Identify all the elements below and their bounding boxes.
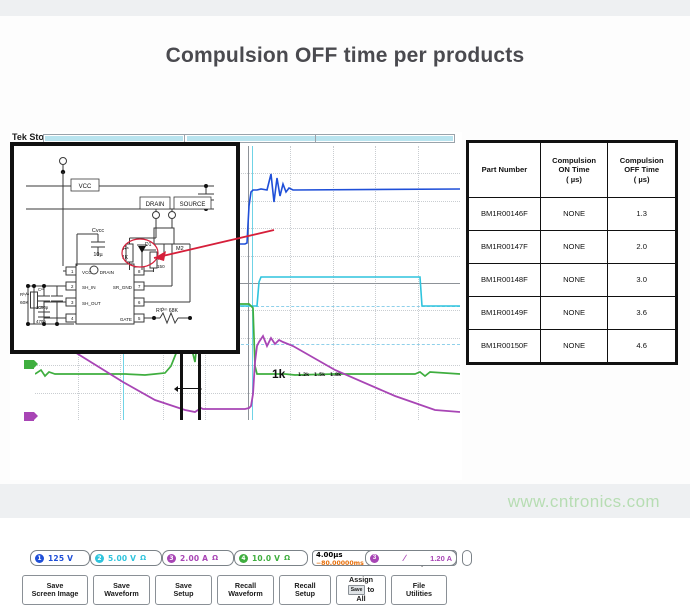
compulsion-time-table: Part Number Compulsion ON Time ( µs) Com… bbox=[466, 140, 678, 365]
channel-3-badge: 3 bbox=[167, 554, 176, 563]
assign-save-chip: Save bbox=[348, 585, 366, 596]
save-screen-image-line1: Save bbox=[47, 582, 64, 591]
cell-off-time: 2.0 bbox=[608, 231, 676, 264]
recall-waveform-line2: Waveform bbox=[228, 590, 262, 599]
save-setup-button[interactable]: Save Setup bbox=[155, 575, 212, 605]
table-row: BM1R00148F NONE 3.0 bbox=[469, 264, 676, 297]
schematic-c2-label: Cᵇᴼ bbox=[38, 305, 46, 310]
trigger-status[interactable]: 3 ∕ 1.20 A bbox=[365, 550, 457, 566]
channel-1-badge: 1 bbox=[35, 554, 44, 563]
channel-3-scale-value: 2.00 A bbox=[180, 554, 208, 563]
assign-all-label: All bbox=[356, 595, 365, 604]
schematic-pin4-number: 4 bbox=[71, 316, 74, 321]
cell-on-time: NONE bbox=[540, 231, 608, 264]
schematic-source-label: SOURCE bbox=[180, 202, 206, 208]
cell-off-time: 1.3 bbox=[608, 198, 676, 231]
cell-on-time: NONE bbox=[540, 330, 608, 363]
header-off-line1: Compulsion bbox=[610, 156, 673, 166]
schematic-pin1-number: 1 bbox=[71, 269, 74, 274]
schematic-c2-value: 470p bbox=[36, 319, 46, 324]
header-off-line2: OFF Time bbox=[610, 165, 673, 175]
cell-off-time: 3.6 bbox=[608, 297, 676, 330]
recall-waveform-button[interactable]: Recall Waveform bbox=[217, 575, 274, 605]
trigger-box[interactable] bbox=[462, 550, 472, 566]
table-row: BM1R00146F NONE 1.3 bbox=[469, 198, 676, 231]
schematic-pin2-name: SH_IN bbox=[82, 285, 96, 290]
resistor-annotation: 1k bbox=[272, 367, 285, 381]
save-waveform-line1: Save bbox=[113, 582, 130, 591]
cell-part-number: BM1R00150F bbox=[469, 330, 541, 363]
channel-2-coupling-icon: Ω bbox=[140, 554, 146, 562]
schematic-pin7-name: SR_GND bbox=[113, 285, 133, 290]
schematic-pin8-number: 8 bbox=[138, 269, 141, 274]
save-waveform-line2: Waveform bbox=[104, 590, 138, 599]
trigger-slope-icon: ∕ bbox=[404, 553, 406, 563]
schematic-pin3-number: 3 bbox=[71, 300, 74, 305]
schematic-pin8-name: DRAIN bbox=[100, 270, 114, 275]
recall-setup-button[interactable]: Recall Setup bbox=[279, 575, 331, 605]
cell-part-number: BM1R00146F bbox=[469, 198, 541, 231]
schematic-pin6-number: 6 bbox=[138, 300, 141, 305]
page-title: Compulsion OFF time per products bbox=[0, 44, 690, 68]
cell-off-time: 3.0 bbox=[608, 264, 676, 297]
site-watermark: www.cntronics.com bbox=[508, 492, 660, 512]
table-header-row: Part Number Compulsion ON Time ( µs) Com… bbox=[469, 143, 676, 198]
slide-page: Compulsion OFF time per products Tek Sto… bbox=[0, 0, 690, 518]
schematic-pin1-name: VCC bbox=[82, 270, 92, 275]
header-part-number-line1: Part Number bbox=[471, 165, 538, 175]
cell-part-number: BM1R00148F bbox=[469, 264, 541, 297]
schematic-pin3-name: SH_OUT bbox=[82, 301, 101, 306]
header-compulsion-off: Compulsion OFF Time ( µs) bbox=[608, 143, 676, 198]
channel-4-coupling-icon: Ω bbox=[284, 554, 290, 562]
mark-label-3: 1.8k bbox=[330, 373, 341, 378]
table-row: BM1R00147F NONE 2.0 bbox=[469, 231, 676, 264]
schematic-rton-label: RᵗṔᵐ 68K bbox=[156, 307, 179, 314]
table-row: BM1R00150F NONE 4.6 bbox=[469, 330, 676, 363]
schematic-pin2-number: 2 bbox=[71, 284, 74, 289]
channel-1-scale-value: 125 V bbox=[48, 554, 73, 563]
cell-on-time: NONE bbox=[540, 297, 608, 330]
save-waveform-button[interactable]: Save Waveform bbox=[93, 575, 150, 605]
schematic-pin6-name: GATE bbox=[120, 317, 132, 322]
channel-4-pointer[interactable] bbox=[24, 360, 34, 369]
header-off-unit: ( µs) bbox=[610, 175, 673, 185]
channel-2-badge: 2 bbox=[95, 554, 104, 563]
channel-4-badge: 4 bbox=[239, 554, 248, 563]
pulse-width-arrow bbox=[177, 388, 199, 389]
assign-label: Assign bbox=[349, 576, 373, 585]
schematic-pin5-number: 5 bbox=[138, 316, 141, 321]
channel-3-scale[interactable]: 3 2.00 A Ω bbox=[162, 550, 234, 566]
schematic-pin7-number: 7 bbox=[138, 284, 141, 289]
channel-4-scale[interactable]: 4 10.0 V Ω bbox=[234, 550, 308, 566]
schematic-cvcc-label: Cvcc bbox=[92, 228, 104, 234]
top-band bbox=[0, 0, 690, 16]
mark-label-1: 1.2k bbox=[298, 373, 309, 378]
file-utilities-line2: Utilities bbox=[406, 590, 432, 599]
schematic-drain-label: DRAIN bbox=[146, 202, 165, 208]
save-setup-line1: Save bbox=[175, 582, 192, 591]
save-screen-image-line2: Screen Image bbox=[32, 590, 79, 599]
recall-waveform-line1: Recall bbox=[235, 582, 256, 591]
cell-on-time: NONE bbox=[540, 198, 608, 231]
schematic-rbias-value: 60K bbox=[20, 300, 29, 306]
trigger-level: 1.20 A bbox=[430, 554, 452, 563]
channel-3-pointer[interactable] bbox=[24, 412, 34, 421]
scope-softkey-row: Save Screen Image Save Waveform Save Set… bbox=[22, 575, 462, 605]
mark-label-2: 1.5k bbox=[314, 373, 325, 378]
channel-2-scale-value: 5.00 V bbox=[108, 554, 136, 563]
save-screen-image-button[interactable]: Save Screen Image bbox=[22, 575, 88, 605]
header-on-unit: ( µs) bbox=[543, 175, 606, 185]
table-row: BM1R00149F NONE 3.6 bbox=[469, 297, 676, 330]
assign-to-label: to bbox=[367, 586, 374, 595]
trigger-source-badge: 3 bbox=[370, 554, 379, 563]
file-utilities-button[interactable]: File Utilities bbox=[391, 575, 447, 605]
channel-3-coupling-icon: Ω bbox=[212, 554, 218, 562]
schematic-rbias-label: Rᵇᵢᴬˢ bbox=[20, 292, 30, 297]
file-utilities-line1: File bbox=[413, 582, 425, 591]
header-part-number: Part Number bbox=[469, 143, 541, 198]
channel-4-scale-value: 10.0 V bbox=[252, 554, 280, 563]
header-on-line1: Compulsion bbox=[543, 156, 606, 166]
recall-setup-line1: Recall bbox=[294, 582, 315, 591]
channel-1-scale[interactable]: 1 125 V bbox=[30, 550, 90, 566]
cell-part-number: BM1R00149F bbox=[469, 297, 541, 330]
cell-part-number: BM1R00147F bbox=[469, 231, 541, 264]
channel-2-scale[interactable]: 2 5.00 V Ω bbox=[90, 550, 162, 566]
header-on-line2: ON Time bbox=[543, 165, 606, 175]
cell-off-time: 4.6 bbox=[608, 330, 676, 363]
schematic-c1-label: Cᴬᵗ bbox=[38, 287, 44, 292]
save-setup-line2: Setup bbox=[174, 590, 194, 599]
header-compulsion-on: Compulsion ON Time ( µs) bbox=[540, 143, 608, 198]
schematic-vcc-label: VCC bbox=[79, 184, 92, 190]
assign-save-to-all-button[interactable]: Assign Save to All bbox=[336, 575, 386, 605]
cell-on-time: NONE bbox=[540, 264, 608, 297]
schematic-cvcc-value: 10µ bbox=[93, 252, 103, 258]
recall-setup-line2: Setup bbox=[295, 590, 315, 599]
callout-arrow bbox=[140, 228, 280, 268]
